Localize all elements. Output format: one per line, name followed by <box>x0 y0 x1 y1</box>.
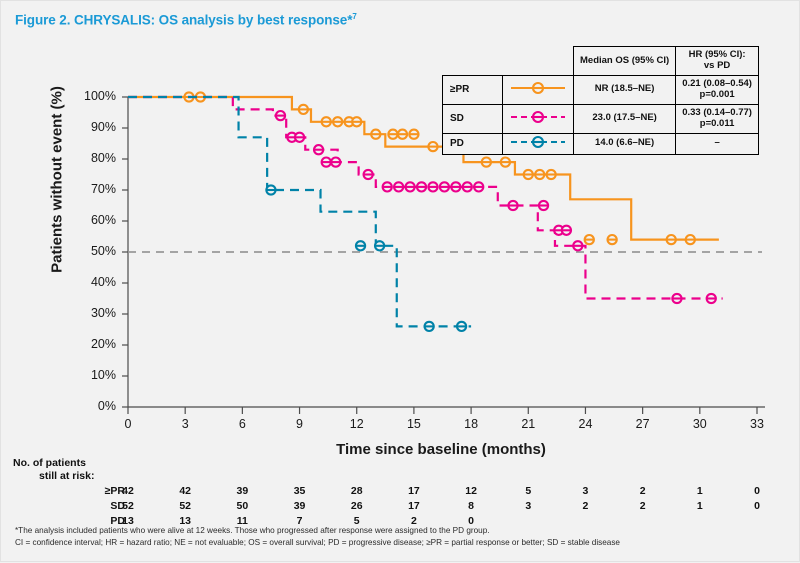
legend-group-label: PD <box>443 133 503 154</box>
x-tick-label: 12 <box>342 417 372 431</box>
y-tick-label: 0% <box>70 399 116 413</box>
legend-hr: – <box>676 133 759 154</box>
legend-hr: 0.21 (0.08–0.54)p=0.001 <box>676 76 759 105</box>
legend-swatch <box>503 133 574 154</box>
y-tick-label: 50% <box>70 244 116 258</box>
risk-title-line1: No. of patients <box>13 457 86 469</box>
km-curve-pd <box>128 97 471 326</box>
risk-table-cell: 42 <box>113 485 143 497</box>
legend-group-label: ≥PR <box>443 76 503 105</box>
legend-header-hr-line2: vs PD <box>704 60 730 71</box>
y-tick-label: 80% <box>70 151 116 165</box>
legend-hr-line2: p=0.011 <box>700 118 735 129</box>
risk-table-cell: 52 <box>113 500 143 512</box>
y-tick-label: 10% <box>70 368 116 382</box>
x-tick-label: 33 <box>742 417 772 431</box>
legend-hr: 0.33 (0.14–0.77)p=0.011 <box>676 104 759 133</box>
risk-table-cell: 50 <box>227 500 257 512</box>
legend-swatch-icon <box>510 134 566 150</box>
y-tick-label: 40% <box>70 275 116 289</box>
risk-table-cell: 39 <box>227 485 257 497</box>
legend-header-blank <box>443 47 574 76</box>
risk-table-cell: 17 <box>399 485 429 497</box>
x-tick-label: 21 <box>513 417 543 431</box>
risk-title-line2: still at risk: <box>13 470 94 483</box>
legend-hr-line1: – <box>714 137 719 148</box>
legend-header-hr-line1: HR (95% CI): <box>689 49 746 60</box>
legend-median-os: 14.0 (6.6–NE) <box>574 133 676 154</box>
legend-swatch-icon <box>510 80 566 96</box>
risk-table-cell: 39 <box>285 500 315 512</box>
x-tick-label: 9 <box>285 417 315 431</box>
risk-table-row: ≥PR4242393528171253210 <box>1 485 800 499</box>
x-tick-label: 15 <box>399 417 429 431</box>
risk-table-cell: 3 <box>513 500 543 512</box>
risk-table-title: No. of patients still at risk: <box>13 457 94 483</box>
risk-table-cell: 2 <box>570 500 600 512</box>
risk-table-cell: 17 <box>399 500 429 512</box>
legend-swatch-icon <box>510 109 566 125</box>
risk-table-row: SD525250392617832210 <box>1 500 800 514</box>
legend-swatch <box>503 104 574 133</box>
legend-hr-line1: 0.33 (0.14–0.77) <box>682 107 752 118</box>
x-tick-label: 6 <box>227 417 257 431</box>
legend-hr-line2: p=0.001 <box>700 89 735 100</box>
legend-group-label: SD <box>443 104 503 133</box>
legend-median-os: NR (18.5–NE) <box>574 76 676 105</box>
x-tick-label: 18 <box>456 417 486 431</box>
legend-header-row: Median OS (95% CI) HR (95% CI): vs PD <box>443 47 759 76</box>
legend-stats-table: Median OS (95% CI) HR (95% CI): vs PD ≥P… <box>442 46 759 155</box>
risk-table-cell: 12 <box>456 485 486 497</box>
legend-swatch <box>503 76 574 105</box>
x-tick-label: 0 <box>113 417 143 431</box>
risk-table-cell: 5 <box>513 485 543 497</box>
y-tick-label: 90% <box>70 120 116 134</box>
risk-table-cell: 2 <box>628 500 658 512</box>
risk-table-cell: 2 <box>628 485 658 497</box>
y-tick-label: 30% <box>70 306 116 320</box>
legend-row: PD14.0 (6.6–NE)– <box>443 133 759 154</box>
x-tick-label: 30 <box>685 417 715 431</box>
footnote-line-2: CI = confidence interval; HR = hazard ra… <box>15 537 795 549</box>
y-tick-label: 100% <box>70 89 116 103</box>
risk-table-cell: 3 <box>570 485 600 497</box>
y-tick-label: 60% <box>70 213 116 227</box>
risk-table-cell: 1 <box>685 500 715 512</box>
legend-body: ≥PRNR (18.5–NE)0.21 (0.08–0.54)p=0.001SD… <box>443 76 759 155</box>
risk-table-cell: 8 <box>456 500 486 512</box>
risk-table-cell: 26 <box>342 500 372 512</box>
footnotes: *The analysis included patients who were… <box>15 525 795 550</box>
risk-table-cell: 52 <box>170 500 200 512</box>
x-tick-label: 27 <box>628 417 658 431</box>
risk-table-cell: 0 <box>742 485 772 497</box>
risk-table-cell: 42 <box>170 485 200 497</box>
y-tick-label: 70% <box>70 182 116 196</box>
risk-table-cell: 35 <box>285 485 315 497</box>
legend-median-os: 23.0 (17.5–NE) <box>574 104 676 133</box>
legend-header-median-os: Median OS (95% CI) <box>574 47 676 76</box>
legend-header-hr: HR (95% CI): vs PD <box>676 47 759 76</box>
y-tick-label: 20% <box>70 337 116 351</box>
legend-row: SD23.0 (17.5–NE)0.33 (0.14–0.77)p=0.011 <box>443 104 759 133</box>
risk-table-cell: 0 <box>742 500 772 512</box>
risk-table-cell: 1 <box>685 485 715 497</box>
x-tick-label: 3 <box>170 417 200 431</box>
x-tick-label: 24 <box>570 417 600 431</box>
risk-table-cell: 28 <box>342 485 372 497</box>
legend-hr-line1: 0.21 (0.08–0.54) <box>682 78 752 89</box>
footnote-line-1: *The analysis included patients who were… <box>15 525 795 537</box>
legend-row: ≥PRNR (18.5–NE)0.21 (0.08–0.54)p=0.001 <box>443 76 759 105</box>
